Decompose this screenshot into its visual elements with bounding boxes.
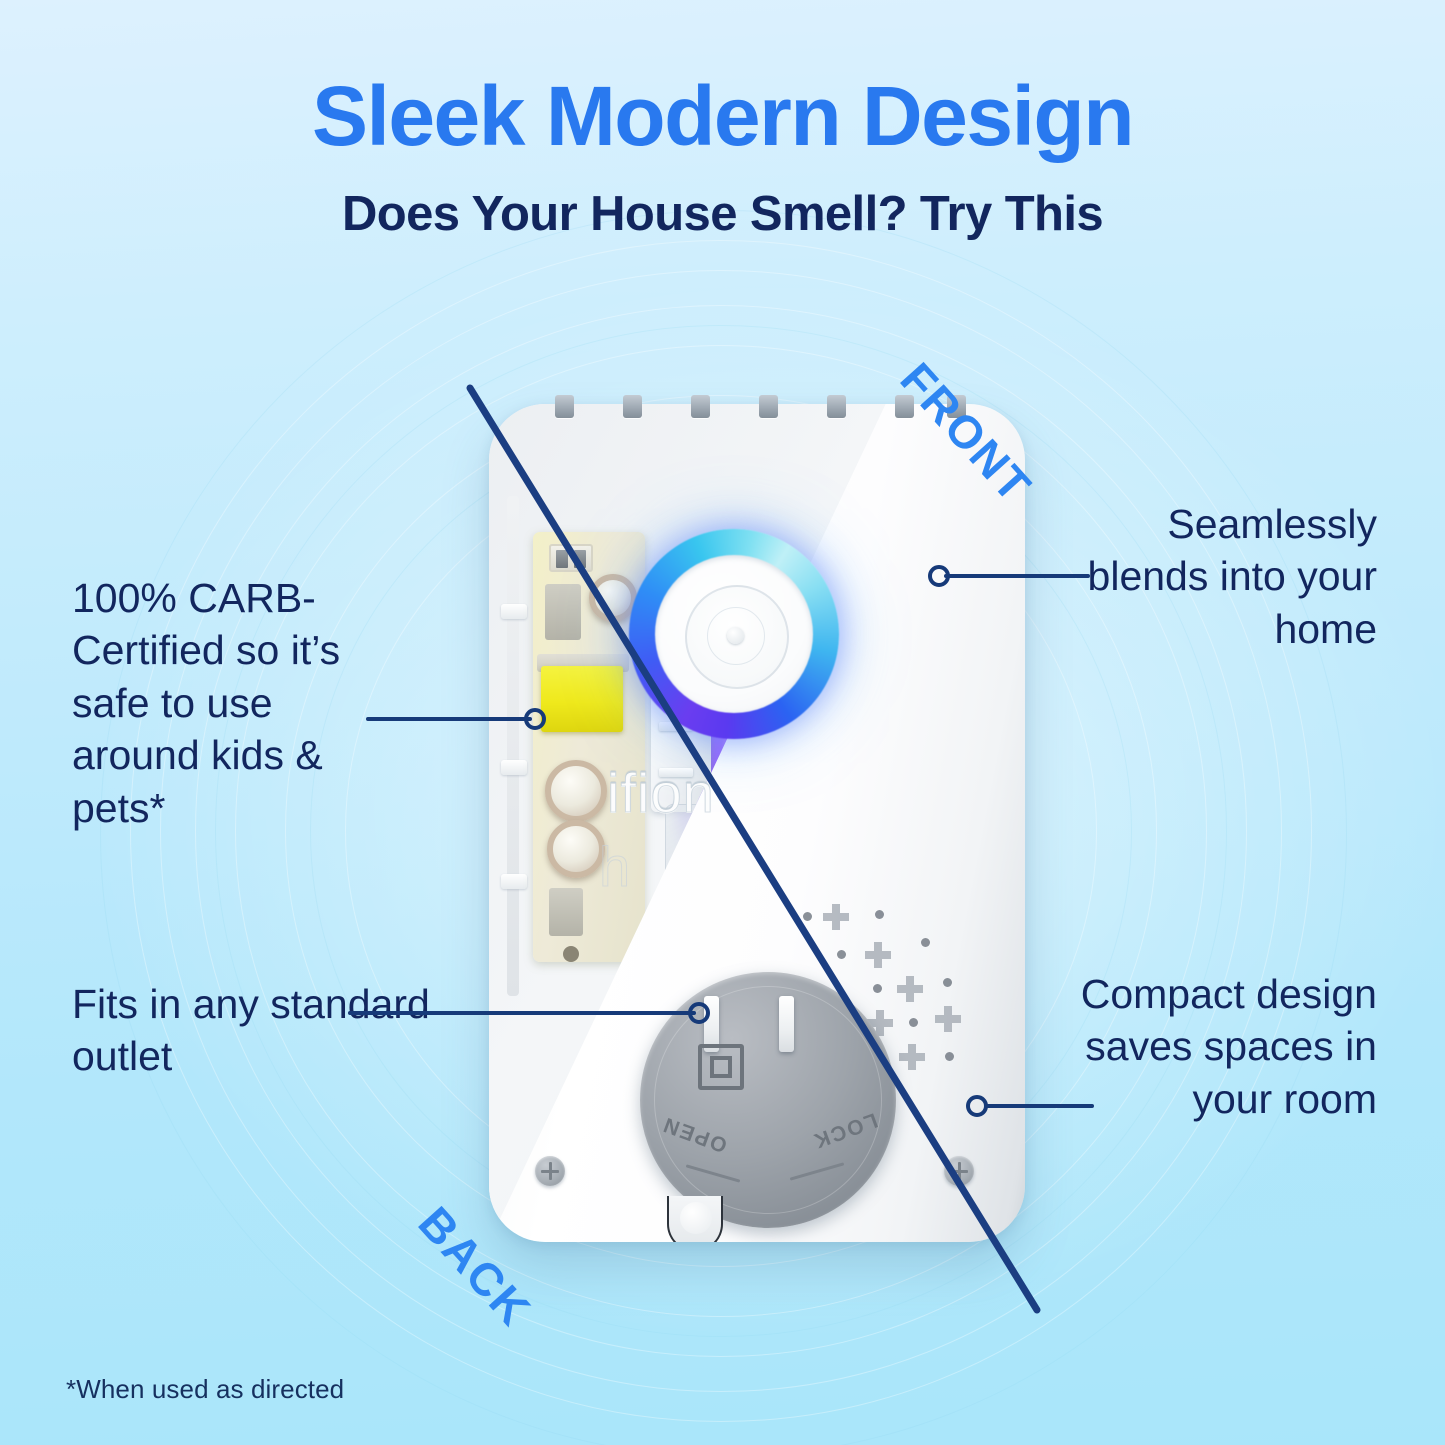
transformer bbox=[541, 666, 623, 732]
product-device: h ifion bbox=[489, 404, 1025, 1242]
ring-center-nub bbox=[727, 627, 744, 644]
callout-blends-into-home: Seamlessly blends into your home bbox=[1077, 498, 1377, 655]
rail-tab bbox=[501, 604, 527, 619]
capacitor-large-1 bbox=[545, 760, 607, 822]
pcb-component-block bbox=[549, 888, 583, 936]
plug-prong-right bbox=[779, 996, 794, 1052]
callout-standard-outlet: Fits in any standard outlet bbox=[72, 978, 472, 1083]
leader-dot-carb bbox=[524, 708, 546, 730]
capacitor-large-2 bbox=[547, 820, 605, 878]
class-ii-symbol bbox=[698, 1044, 744, 1090]
pcb-solder-point bbox=[563, 946, 579, 962]
rail-tab bbox=[501, 874, 527, 889]
page-title: Sleek Modern Design bbox=[0, 74, 1445, 158]
callout-compact-design: Compact design saves spaces in your room bbox=[1047, 968, 1377, 1125]
device-shell: h ifion bbox=[489, 404, 1025, 1242]
leader-line-outlet bbox=[348, 1011, 696, 1015]
brand-wordmark: ifion bbox=[607, 760, 937, 825]
footnote-text: *When used as directed bbox=[66, 1374, 344, 1405]
fuse-holder bbox=[549, 544, 593, 572]
plug-release-tab[interactable] bbox=[667, 1196, 723, 1242]
pcb-component-block bbox=[545, 584, 581, 640]
leader-dot-compact bbox=[966, 1095, 988, 1117]
infographic-canvas: Sleek Modern Design Does Your House Smel… bbox=[0, 0, 1445, 1445]
leader-line-compact bbox=[984, 1104, 1094, 1108]
internal-ghost-wordmark: h bbox=[599, 834, 630, 899]
leader-dot-outlet bbox=[688, 1002, 710, 1024]
screw-bottom-right bbox=[944, 1156, 974, 1186]
leader-dot-blend bbox=[928, 565, 950, 587]
leader-line-blend bbox=[944, 574, 1090, 578]
rail-tab bbox=[501, 760, 527, 775]
leader-line-carb bbox=[366, 717, 532, 721]
page-subtitle: Does Your House Smell? Try This bbox=[0, 190, 1445, 239]
screw-bottom-left bbox=[535, 1156, 565, 1186]
internal-rail bbox=[507, 496, 519, 996]
callout-carb-certified: 100% CARB-Certified so it’s safe to use … bbox=[72, 572, 402, 834]
